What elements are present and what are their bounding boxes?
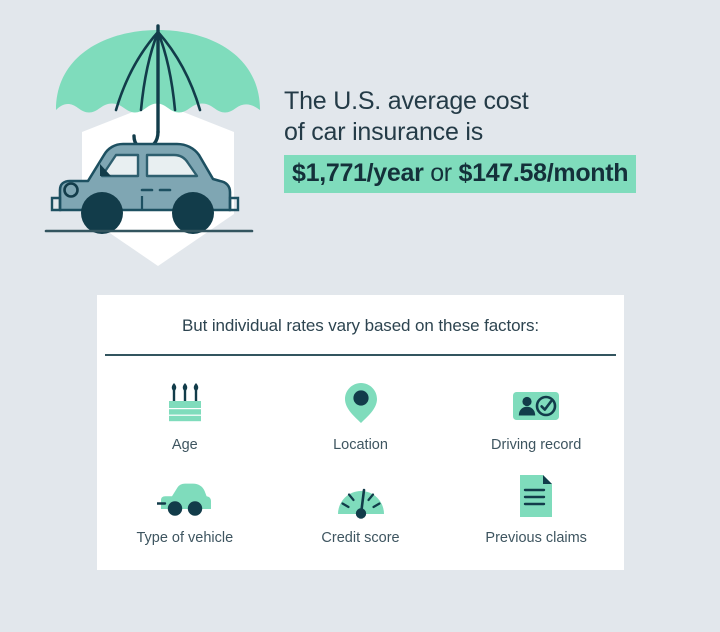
factor-item-previous-claims[interactable]: Previous claims bbox=[448, 471, 624, 546]
headline-line-2: of car insurance is bbox=[284, 117, 684, 148]
headline-block: The U.S. average cost of car insurance i… bbox=[284, 86, 684, 193]
card-title: But individual rates vary based on these… bbox=[97, 295, 624, 336]
birthday-cake-icon bbox=[162, 378, 208, 426]
factor-label: Age bbox=[172, 437, 198, 453]
factors-card: But individual rates vary based on these… bbox=[97, 295, 624, 570]
factor-label: Location bbox=[333, 437, 388, 453]
document-icon bbox=[516, 471, 556, 519]
factor-item-location[interactable]: Location bbox=[273, 378, 449, 453]
factor-label: Credit score bbox=[321, 530, 399, 546]
car-icon bbox=[157, 471, 213, 519]
factor-item-age[interactable]: Age bbox=[97, 378, 273, 453]
card-divider bbox=[105, 354, 616, 356]
price-per-month: $147.58/month bbox=[458, 159, 628, 187]
price-conjunction: or bbox=[424, 159, 459, 187]
headline-line-1: The U.S. average cost bbox=[284, 86, 684, 117]
id-card-check-icon bbox=[512, 378, 560, 426]
price-highlight: $1,771/year or $147.58/month bbox=[284, 155, 636, 193]
gauge-icon bbox=[335, 471, 387, 519]
hero-section: The U.S. average cost of car insurance i… bbox=[0, 0, 720, 286]
price-wrap: $1,771/year or $147.58/month bbox=[284, 155, 684, 193]
umbrella-icon bbox=[56, 26, 260, 148]
factor-item-credit-score[interactable]: Credit score bbox=[273, 471, 449, 546]
factor-row: Type of vehicle Credit score bbox=[97, 471, 624, 546]
insurance-illustration bbox=[38, 24, 278, 272]
factor-label: Driving record bbox=[491, 437, 581, 453]
price-per-year: $1,771/year bbox=[292, 159, 424, 187]
factor-label: Type of vehicle bbox=[136, 530, 233, 546]
factor-item-driving-record[interactable]: Driving record bbox=[448, 378, 624, 453]
map-pin-icon bbox=[343, 378, 379, 426]
factor-label: Previous claims bbox=[485, 530, 587, 546]
factor-row: Age Location bbox=[97, 378, 624, 453]
factor-item-type-of-vehicle[interactable]: Type of vehicle bbox=[97, 471, 273, 546]
